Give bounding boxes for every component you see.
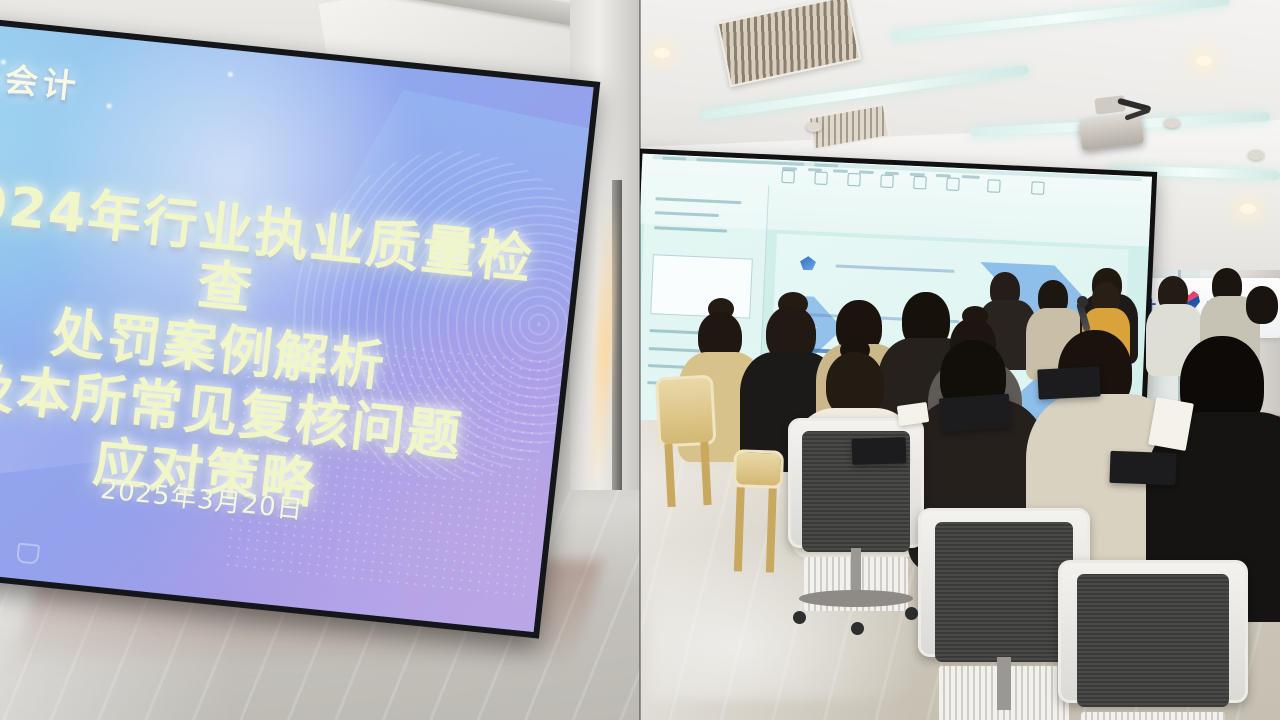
smoke-detector-icon-2 xyxy=(1164,118,1180,128)
slide-thumbnail[interactable] xyxy=(650,255,753,319)
attendee-head xyxy=(1246,286,1278,324)
laptop[interactable] xyxy=(939,394,1011,433)
office-chair-3[interactable] xyxy=(1058,560,1248,720)
wood-chair-2[interactable] xyxy=(730,449,784,571)
projection-screen: 中信会计 2024年行业执业质量检查 处罚案例解析 及本所常见复核问题 应对策略… xyxy=(0,10,640,720)
slide-footer-icons xyxy=(0,529,40,565)
smoke-detector-icon-3 xyxy=(1248,150,1264,160)
laptop-3[interactable] xyxy=(1109,451,1176,485)
projector-body xyxy=(1079,113,1144,150)
panel-divider xyxy=(639,0,641,720)
wood-chair[interactable] xyxy=(655,375,719,498)
microphone-head-icon xyxy=(1077,296,1088,307)
panel-classroom: 中信会计 中信会计 xyxy=(640,0,1280,720)
photo-composite: 中信会计 2024年行业执业质量检查 处罚案例解析 及本所常见复核问题 应对策略… xyxy=(0,0,1280,720)
handout-paper-2[interactable] xyxy=(897,402,929,426)
title-slide: 中信会计 2024年行业执业质量检查 处罚案例解析 及本所常见复核问题 应对策略… xyxy=(0,17,594,632)
screen-bezel: 中信会计 2024年行业执业质量检查 处罚案例解析 及本所常见复核问题 应对策略… xyxy=(0,10,600,639)
panel-projection-screen: 中信会计 2024年行业执业质量检查 处罚案例解析 及本所常见复核问题 应对策略… xyxy=(0,0,640,720)
laptop-2[interactable] xyxy=(1037,366,1100,399)
smoke-detector-icon xyxy=(806,122,822,132)
slide-logo-icon xyxy=(800,256,817,271)
laptop-4[interactable] xyxy=(852,437,907,465)
shield-icon xyxy=(16,543,40,565)
